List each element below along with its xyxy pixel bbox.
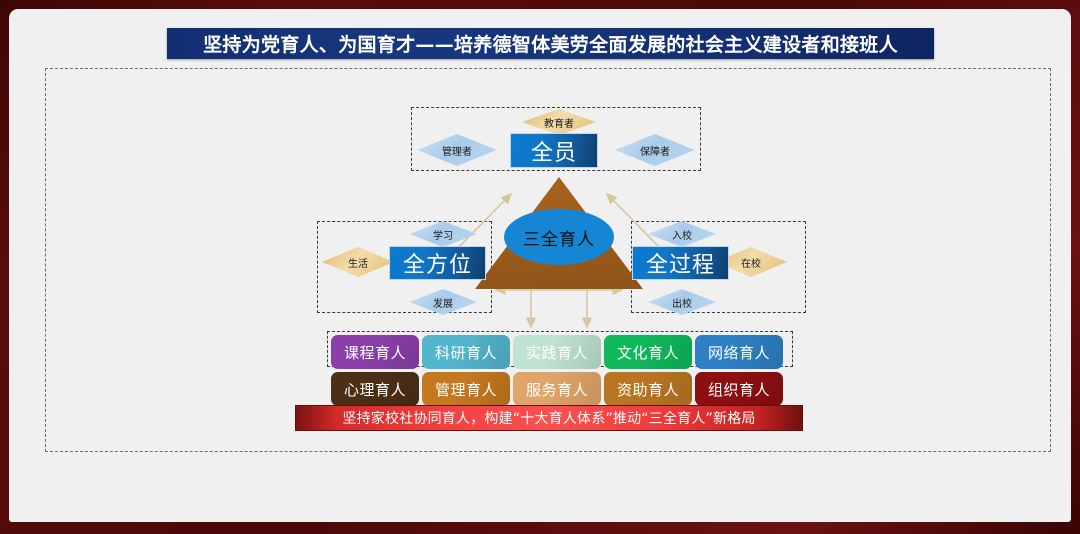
cell-keyan[interactable]: 科研育人: [422, 335, 510, 369]
cell-kecheng[interactable]: 课程育人: [331, 335, 419, 369]
matrix-row-1: 课程育人 科研育人 实践育人 文化育人 网络育人: [331, 335, 789, 369]
cell-fuwu[interactable]: 服务育人: [513, 372, 601, 406]
slide-canvas: 坚持为党育人、为国育才——培养德智体美劳全面发展的社会主义建设者和接班人: [9, 9, 1071, 522]
cell-wangluo[interactable]: 网络育人: [695, 335, 783, 369]
cell-zizhu[interactable]: 资助育人: [604, 372, 692, 406]
cell-guanli[interactable]: 管理育人: [422, 372, 510, 406]
center-ellipse-label: 三全育人: [504, 209, 614, 265]
matrix-row-2: 心理育人 管理育人 服务育人 资助育人 组织育人: [331, 372, 789, 406]
cell-zuzhi[interactable]: 组织育人: [695, 372, 783, 406]
core-box-quanguocheng: 全过程: [632, 246, 729, 280]
cell-shijian[interactable]: 实践育人: [513, 335, 601, 369]
cell-xinli[interactable]: 心理育人: [331, 372, 419, 406]
core-box-quanfangwei: 全方位: [389, 246, 486, 280]
title-banner: 坚持为党育人、为国育才——培养德智体美劳全面发展的社会主义建设者和接班人: [167, 28, 934, 59]
bottom-slogan-banner: 坚持家校社协同育人，构建“十大育人体系”推动“三全育人”新格局: [295, 405, 803, 431]
core-box-quanyuan: 全员: [510, 133, 598, 168]
outer-frame: 坚持为党育人、为国育才——培养德智体美劳全面发展的社会主义建设者和接班人: [0, 0, 1080, 534]
page-title: 坚持为党育人、为国育才——培养德智体美劳全面发展的社会主义建设者和接班人: [203, 30, 898, 57]
ten-education-systems: 课程育人 科研育人 实践育人 文化育人 网络育人 心理育人 管理育人 服务育人 …: [331, 335, 789, 409]
cell-wenhua[interactable]: 文化育人: [604, 335, 692, 369]
bottom-slogan-text: 坚持家校社协同育人，构建“十大育人体系”推动“三全育人”新格局: [342, 408, 755, 428]
